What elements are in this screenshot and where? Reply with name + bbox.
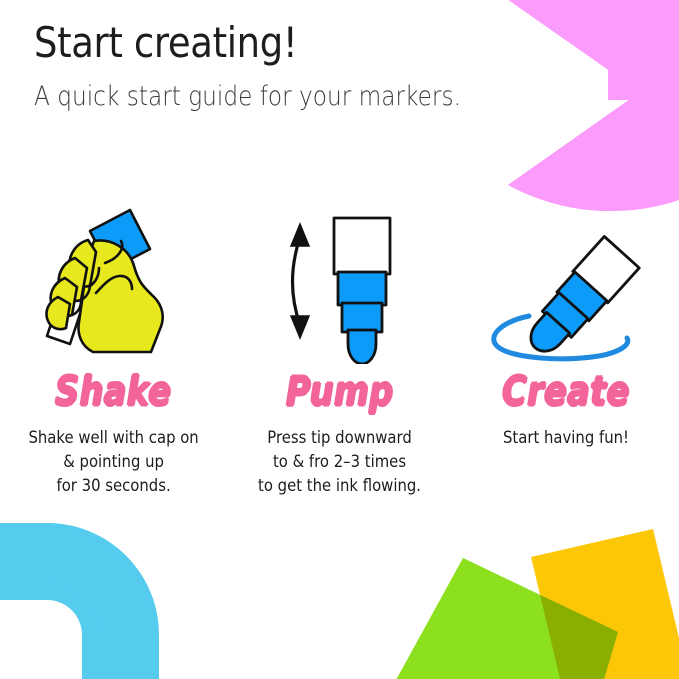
step-create-heading: Create bbox=[502, 372, 629, 412]
step-pump-body: Press tip downward to & fro 2–3 times to… bbox=[258, 426, 421, 498]
pink-shape-fill-patch bbox=[608, 0, 679, 100]
yellow-rotated-rectangle-shape bbox=[531, 529, 679, 679]
step-create: Create Start having fun! bbox=[453, 196, 679, 450]
hand-holding-marker-icon bbox=[33, 196, 193, 364]
page-subtitle: A quick start guide for your markers. bbox=[34, 80, 481, 114]
step-create-illustration bbox=[481, 196, 651, 364]
steps-row: Shake Shake well with cap on & pointing … bbox=[0, 196, 679, 498]
step-create-body: Start having fun! bbox=[503, 426, 629, 450]
up-down-arrow-icon bbox=[291, 224, 309, 338]
page-title: Start creating! bbox=[34, 18, 492, 68]
step-shake-heading: Shake bbox=[55, 372, 171, 412]
step-pump: Pump Press tip downward to & fro 2–3 tim… bbox=[226, 196, 452, 498]
step-pump-illustration bbox=[259, 196, 419, 364]
step-shake-body: Shake well with cap on & pointing up for… bbox=[28, 426, 198, 498]
step-shake: Shake Shake well with cap on & pointing … bbox=[0, 196, 226, 498]
header: Start creating! A quick start guide for … bbox=[34, 18, 554, 113]
marker-drawing-stroke-icon bbox=[481, 196, 651, 364]
green-quadrilateral-shape bbox=[385, 558, 618, 679]
step-pump-heading: Pump bbox=[286, 372, 393, 412]
marker-pump-arrow-icon bbox=[259, 196, 419, 364]
step-shake-illustration bbox=[33, 196, 193, 364]
cyan-arc-outer bbox=[0, 523, 159, 679]
poster-canvas: Start creating! A quick start guide for … bbox=[0, 0, 679, 679]
cyan-quarter-arc-shape bbox=[0, 523, 159, 679]
